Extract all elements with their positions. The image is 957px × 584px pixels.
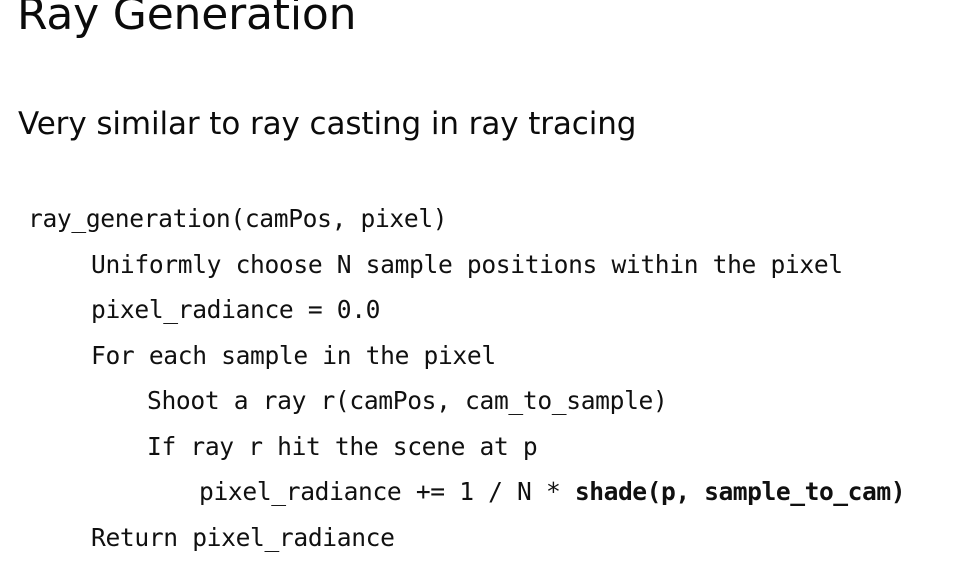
code-line: ray_generation(camPos, pixel) [0,196,957,242]
pseudocode-block: ray_generation(camPos, pixel)Uniformly c… [0,196,957,560]
code-line: pixel_radiance += 1 / N * shade(p, sampl… [0,469,957,515]
code-line: Shoot a ray r(camPos, cam_to_sample) [0,378,957,424]
code-line: pixel_radiance = 0.0 [0,287,957,333]
code-text: pixel_radiance = 0.0 [91,295,380,324]
code-text-emphasis: shade(p, sample_to_cam) [575,477,905,506]
code-text: If ray r hit the scene at p [147,432,537,461]
code-line: For each sample in the pixel [0,333,957,379]
code-text: Return pixel_radiance [91,523,395,552]
slide-subtitle: Very similar to ray casting in ray traci… [18,104,636,144]
slide: Ray Generation Very similar to ray casti… [0,0,957,584]
code-text: Uniformly choose N sample positions with… [91,250,843,279]
code-line: Uniformly choose N sample positions with… [0,242,957,288]
code-text: Shoot a ray r(camPos, cam_to_sample) [147,386,667,415]
page-title: Ray Generation [17,0,356,41]
code-line: Return pixel_radiance [0,515,957,561]
code-text: For each sample in the pixel [91,341,496,370]
code-line: If ray r hit the scene at p [0,424,957,470]
code-text: ray_generation(camPos, pixel) [28,204,447,233]
code-text: pixel_radiance += 1 / N * [199,477,575,506]
